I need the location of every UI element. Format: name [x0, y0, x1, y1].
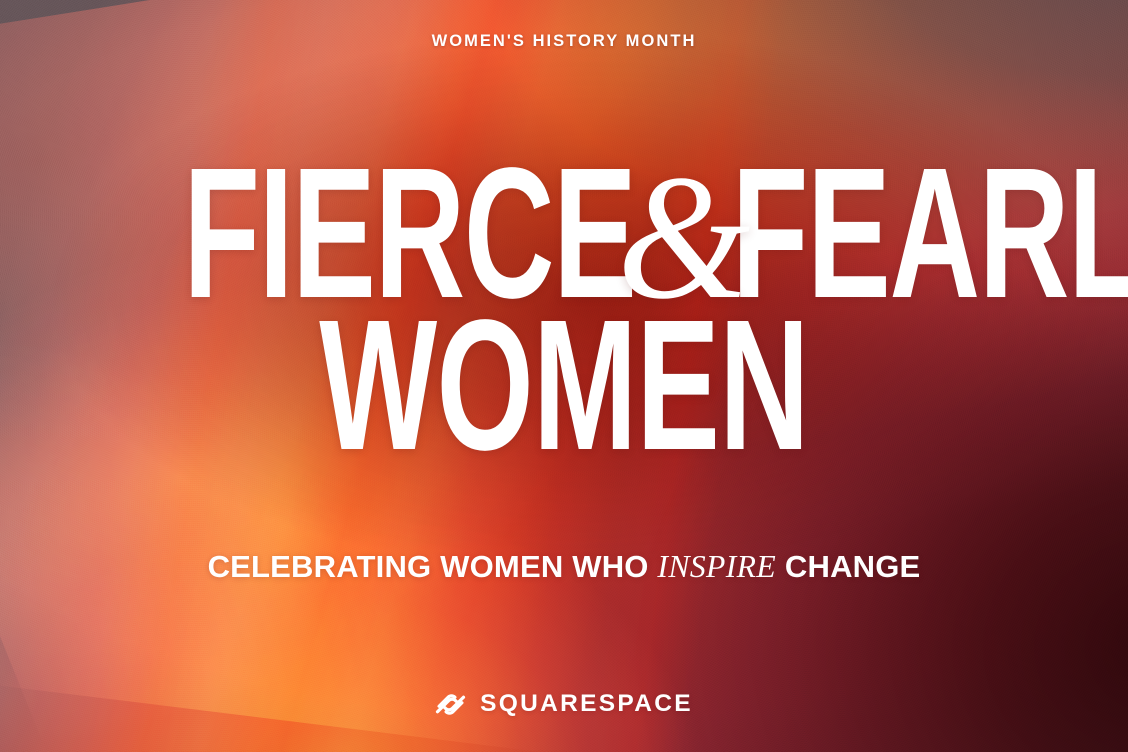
- subtitle: CELEBRATING WOMEN WHO INSPIRE CHANGE: [0, 549, 1128, 585]
- page-title: FIERCE&FEARLESS WOMEN: [0, 156, 1128, 463]
- headline-line-2: WOMEN: [185, 308, 943, 463]
- subtitle-emphasis-inspire: INSPIRE: [657, 549, 776, 584]
- subtitle-text-before: CELEBRATING WOMEN WHO: [208, 549, 658, 584]
- squarespace-logo-icon: [435, 691, 466, 718]
- squarespace-wordmark: SQUARESPACE: [480, 692, 693, 717]
- subtitle-text-after: CHANGE: [776, 549, 920, 584]
- poster-content: WOMEN'S HISTORY MONTH FIERCE&FEARLESS WO…: [0, 0, 1128, 752]
- poster-canvas: WOMEN'S HISTORY MONTH FIERCE&FEARLESS WO…: [0, 0, 1128, 752]
- squarespace-logo-lockup[interactable]: SQUARESPACE: [0, 691, 1128, 718]
- eyebrow-label: WOMEN'S HISTORY MONTH: [0, 32, 1128, 51]
